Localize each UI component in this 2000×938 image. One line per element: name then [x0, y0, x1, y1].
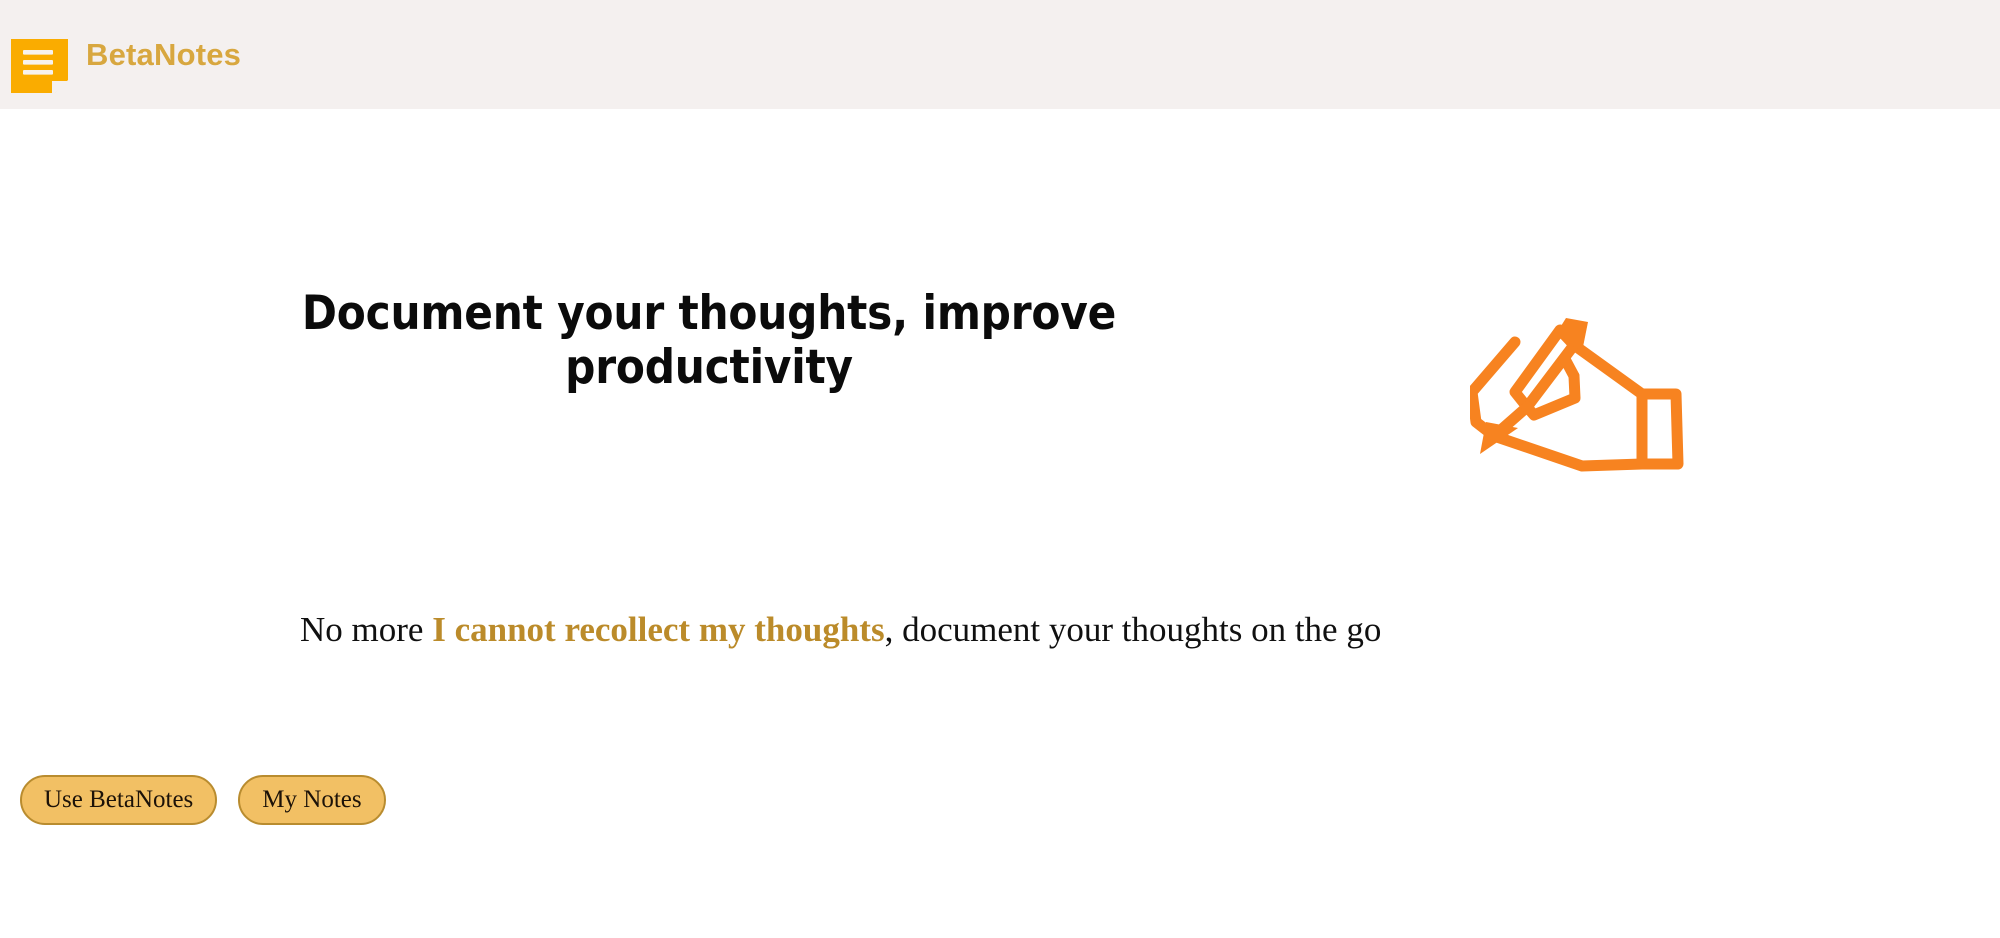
use-betanotes-button[interactable]: Use BetaNotes: [20, 775, 217, 825]
brand-name: BetaNotes: [86, 37, 241, 73]
hand-holding-pencil-icon: [1470, 314, 1700, 504]
hero-subtitle: No more I cannot recollect my thoughts, …: [300, 609, 1700, 651]
site-header: BetaNotes: [0, 0, 2000, 109]
hero-subtitle-prefix: No more: [300, 610, 432, 649]
hero-subtitle-accent: I cannot recollect my thoughts: [432, 610, 884, 649]
note-document-icon: [6, 17, 74, 93]
hero-action-buttons: Use BetaNotes My Notes: [20, 775, 386, 825]
brand-home-link[interactable]: BetaNotes: [6, 17, 241, 93]
page-title: Document your thoughts, improve producti…: [300, 287, 1118, 394]
hero-section: Document your thoughts, improve producti…: [0, 109, 2000, 938]
my-notes-button[interactable]: My Notes: [238, 775, 385, 825]
hero-subtitle-suffix: , document your thoughts on the go: [885, 610, 1382, 649]
